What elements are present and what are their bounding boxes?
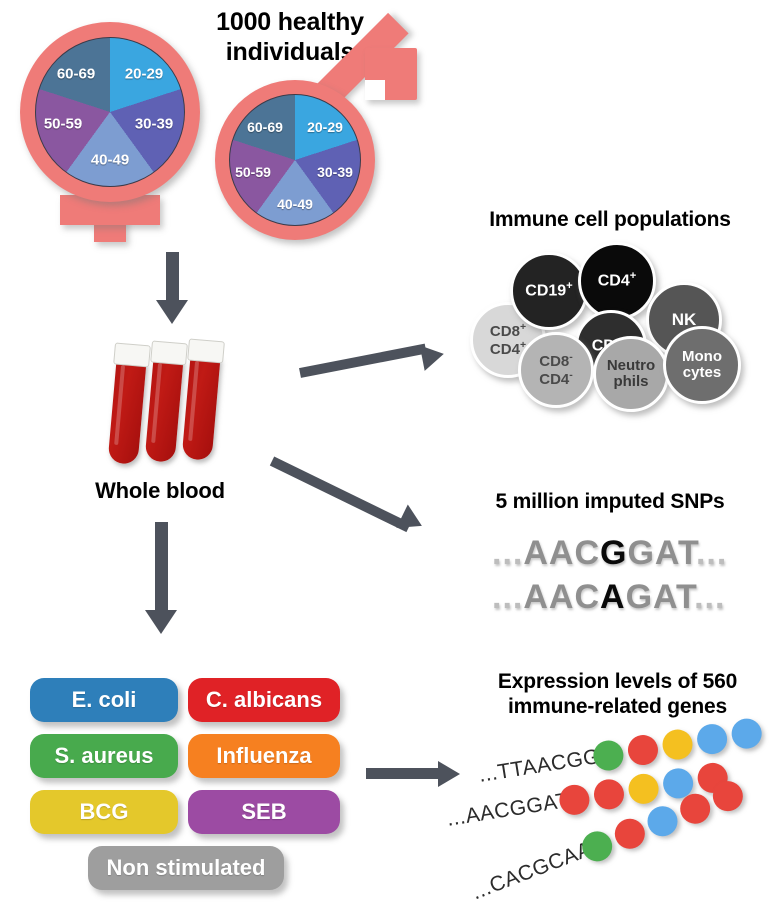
immune-cell-cd8neg-cd4neg: CD8- CD4-	[518, 332, 594, 408]
female-age-label-50-59: 50-59	[44, 116, 82, 133]
expression-bead	[626, 733, 660, 767]
snp-variant-base: G	[600, 534, 627, 572]
blood-tube-body	[145, 357, 184, 463]
arrow-blood-to-immune-cells	[300, 330, 460, 390]
immune-cell-cluster: CD8+ CD4+ CD19+ CD4+ NK CD8+ CD8- CD4- N…	[460, 240, 760, 410]
blood-tube-body	[182, 355, 221, 461]
blood-tube-body	[108, 359, 147, 465]
stimulus-c-albicans[interactable]: C. albicans	[188, 678, 340, 722]
expression-bead	[730, 716, 764, 750]
blood-tubes	[110, 338, 240, 468]
snps-title: 5 million imputed SNPs	[460, 490, 760, 515]
immune-cell-label: cytes	[683, 364, 721, 381]
female-age-label-20-29: 20-29	[125, 66, 163, 83]
whole-blood-label: Whole blood	[60, 478, 260, 504]
male-symbol: 20-29 30-39 40-49 50-59 60-69	[205, 48, 425, 248]
snp-variant-base: A	[600, 578, 626, 616]
blood-tube-cap	[150, 340, 188, 365]
expression-bead	[592, 777, 626, 811]
male-age-label-20-29: 20-29	[307, 119, 343, 135]
female-age-label-60-69: 60-69	[57, 66, 95, 83]
male-symbol-arrowhead-notch	[365, 80, 385, 100]
immune-cell-label: CD4	[539, 371, 569, 388]
snp-sequence-row: ...AACAGAT...	[492, 578, 725, 617]
blood-tube	[145, 341, 185, 463]
expression-bead	[643, 802, 682, 841]
snp-suffix: ...	[694, 578, 725, 616]
female-symbol: 20-29 30-39 40-49 50-59 60-69	[10, 12, 210, 242]
immune-cell-label: CD4	[598, 273, 630, 290]
expression-bead	[626, 772, 660, 806]
blood-tube-cap	[113, 342, 151, 367]
snp-left-bases: AAC	[523, 578, 600, 616]
stimuli-panel: E. coli C. albicans S. aureus Influenza …	[30, 678, 350, 898]
immune-cell-neutrophils: Neutro phils	[593, 336, 669, 412]
male-age-label-50-59: 50-59	[235, 164, 271, 180]
expression-strands: ...TTAACGG ...AACGGAT ...CACGCAA	[455, 730, 771, 910]
expression-sequence: ...CACGCAA	[469, 838, 596, 906]
male-age-label-60-69: 60-69	[247, 119, 283, 135]
stimulus-bcg[interactable]: BCG	[30, 790, 178, 834]
immune-cell-label: CD8	[539, 353, 569, 370]
stimulus-e-coli[interactable]: E. coli	[30, 678, 178, 722]
snp-left-bases: AAC	[523, 534, 600, 572]
expression-sequence: ...AACGGAT	[445, 789, 571, 832]
immune-cell-label: phils	[613, 373, 648, 390]
immune-cell-label: Mono	[682, 348, 722, 365]
female-age-label-30-39: 30-39	[135, 116, 173, 133]
blood-tube	[108, 343, 148, 465]
snp-prefix: ...	[492, 578, 523, 616]
snp-sequence-row: ...AACGGAT...	[492, 534, 727, 573]
immune-cell-label: Neutro	[607, 357, 655, 374]
stimulus-s-aureus[interactable]: S. aureus	[30, 734, 178, 778]
blood-tube	[182, 339, 222, 461]
expression-title: Expression levels of 560 immune-related …	[470, 670, 765, 720]
snp-prefix: ...	[492, 534, 523, 572]
snp-right-bases: GAT	[626, 578, 694, 616]
stimulus-non-stimulated[interactable]: Non stimulated	[88, 846, 284, 890]
immune-cells-title: Immune cell populations	[455, 208, 765, 233]
immune-cell-label: CD8	[490, 323, 520, 340]
male-age-label-40-49: 40-49	[277, 196, 313, 212]
snp-right-bases: GAT	[627, 534, 695, 572]
immune-cell-monocytes: Mono cytes	[663, 326, 741, 404]
female-age-label-40-49: 40-49	[91, 152, 129, 169]
expression-bead	[660, 727, 694, 761]
immune-cell-label: CD19	[525, 283, 566, 300]
male-age-label-30-39: 30-39	[317, 164, 353, 180]
immune-cell-cd4pos: CD4+	[578, 242, 656, 320]
snp-suffix: ...	[696, 534, 727, 572]
study-design-figure: 1000 healthy individuals 20-29 30-39 40-…	[0, 0, 771, 922]
expression-bead	[610, 814, 649, 853]
immune-cell-label: CD4	[490, 341, 520, 358]
stimulus-seb[interactable]: SEB	[188, 790, 340, 834]
expression-bead	[695, 722, 729, 756]
immune-cell-cd19pos: CD19+	[510, 252, 588, 330]
arrow-blood-to-snps	[272, 448, 462, 558]
blood-tube-cap	[187, 338, 225, 363]
stimulus-influenza[interactable]: Influenza	[188, 734, 340, 778]
